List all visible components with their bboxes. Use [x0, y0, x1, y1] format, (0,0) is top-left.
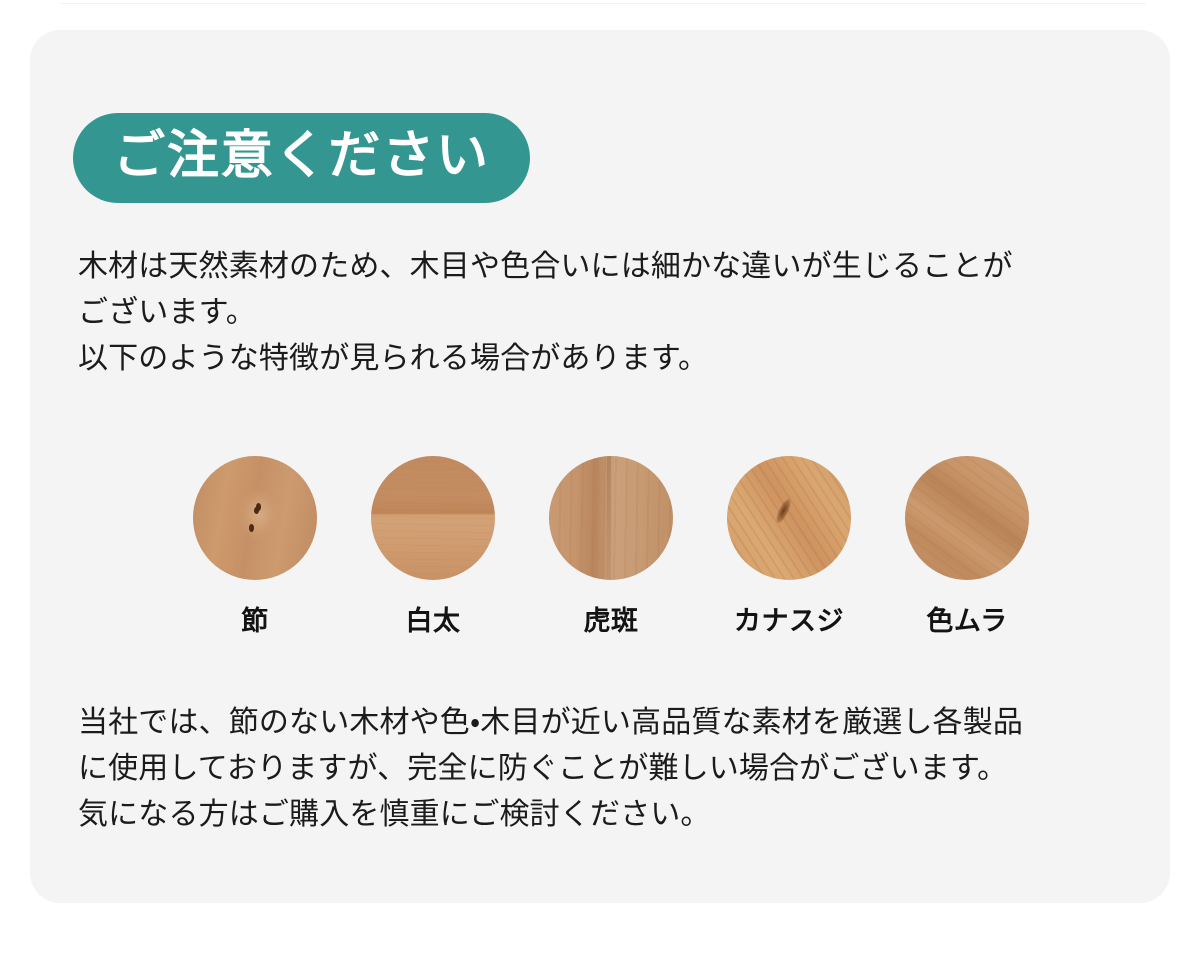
color-unevenness-wood-swatch	[905, 456, 1029, 580]
outro-line-3: 気になる方はご購入を慎重にご検討ください。	[78, 792, 1138, 838]
intro-paragraph: 木材は天然素材のため、木目や色合いには細かな違いが生じることが ございます。 以…	[78, 244, 1118, 382]
wood-sample-label: 虎斑	[583, 608, 638, 635]
outro-line-2: に使用しておりますが、完全に防ぐことが難しい場合がございます。	[78, 746, 1138, 792]
wood-sample-item-mineral-streak: カナスジ	[727, 456, 851, 635]
top-divider	[60, 3, 1146, 4]
tiger-fleck-wood-swatch	[549, 456, 673, 580]
wood-sample-item-tiger-fleck: 虎斑	[549, 456, 673, 635]
notice-card: ご注意ください 木材は天然素材のため、木目や色合いには細かな違いが生じることが …	[30, 30, 1170, 903]
wood-sample-item-color-unevenness: 色ムラ	[905, 456, 1029, 635]
wood-sample-label: 色ムラ	[926, 608, 1007, 635]
outro-line-1: 当社では、節のない木材や色・木目が近い高品質な素材を厳選し各製品	[78, 700, 1138, 746]
sapwood-wood-swatch	[371, 456, 495, 580]
wood-sample-item-knot: 節	[193, 456, 317, 635]
intro-line-2: ございます。	[78, 290, 1118, 336]
wood-sample-label: 白太	[405, 608, 460, 635]
wood-sample-label: 節	[241, 608, 269, 635]
knot-wood-swatch	[193, 456, 317, 580]
notice-heading-label: ご注意ください	[113, 130, 490, 182]
wood-sample-label: カナスジ	[734, 608, 844, 635]
mineral-streak-wood-swatch	[727, 456, 851, 580]
intro-line-3: 以下のような特徴が見られる場合があります。	[78, 336, 1118, 382]
notice-heading-badge: ご注意ください	[73, 113, 530, 203]
outro-paragraph: 当社では、節のない木材や色・木目が近い高品質な素材を厳選し各製品 に使用しており…	[78, 700, 1138, 838]
wood-sample-item-sapwood: 白太	[371, 456, 495, 635]
intro-line-1: 木材は天然素材のため、木目や色合いには細かな違いが生じることが	[78, 244, 1118, 290]
wood-sample-list: 節 白太 虎斑 カナスジ 色ムラ	[30, 456, 1170, 635]
